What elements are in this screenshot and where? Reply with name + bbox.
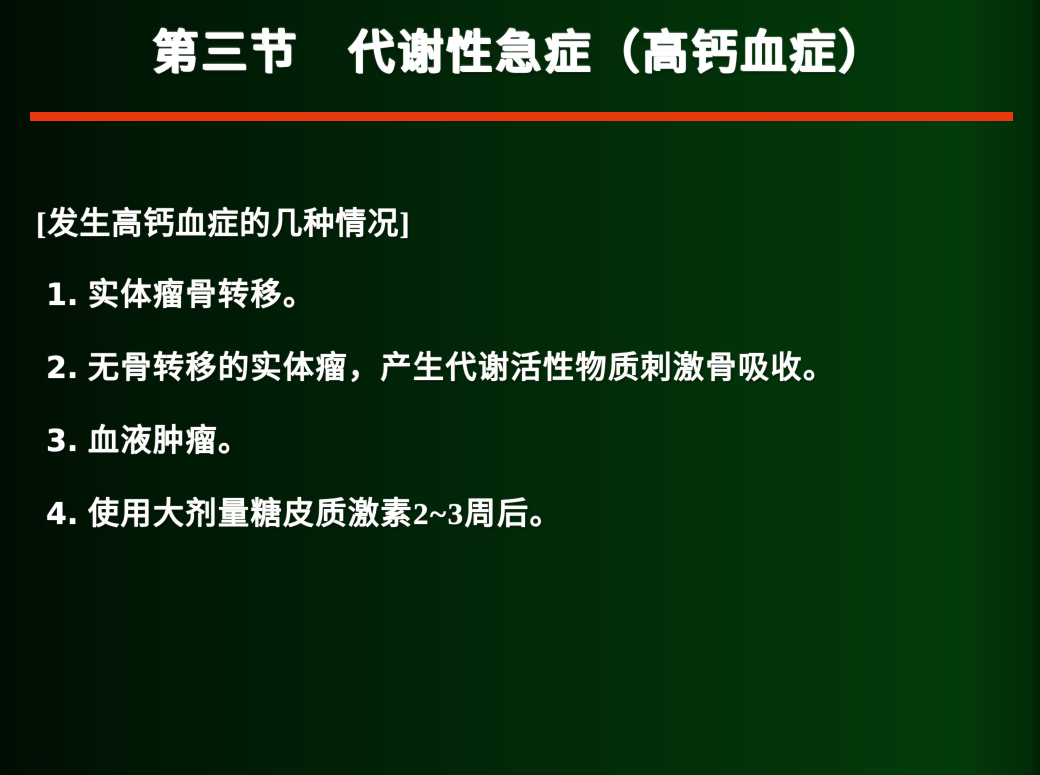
list-item: 4. 使用大剂量糖皮质激素2~3周后。 xyxy=(36,488,1006,533)
list-item: 1. 实体瘤骨转移。 xyxy=(36,269,1006,314)
body-content: [发生高钙血症的几种情况] 1. 实体瘤骨转移。 2. 无骨转移的实体瘤，产生代… xyxy=(36,198,1006,533)
list-item-text: 实体瘤骨转移。 xyxy=(88,269,316,314)
title-divider-rule xyxy=(30,112,1013,121)
list-item: 2. 无骨转移的实体瘤，产生代谢活性物质刺激骨吸收。 xyxy=(36,342,1006,387)
section-heading: [发生高钙血症的几种情况] xyxy=(36,198,1006,243)
list-item-text: 无骨转移的实体瘤，产生代谢活性物质刺激骨吸收。 xyxy=(88,342,836,387)
list-item-number: 3. xyxy=(36,424,88,459)
presentation-slide: 第三节 代谢性急症（高钙血症） [发生高钙血症的几种情况] 1. 实体瘤骨转移。… xyxy=(0,0,1040,775)
numbered-point-list: 1. 实体瘤骨转移。 2. 无骨转移的实体瘤，产生代谢活性物质刺激骨吸收。 3.… xyxy=(36,269,1006,533)
list-item: 3. 血液肿瘤。 xyxy=(36,415,1006,460)
list-item-text: 血液肿瘤。 xyxy=(88,415,251,460)
title-block: 第三节 代谢性急症（高钙血症） xyxy=(0,26,1040,79)
list-item-number: 2. xyxy=(36,351,88,386)
page-title: 第三节 代谢性急症（高钙血症） xyxy=(153,26,888,79)
list-item-text: 使用大剂量糖皮质激素2~3周后。 xyxy=(88,488,562,533)
list-item-number: 4. xyxy=(36,497,88,532)
list-item-number: 1. xyxy=(36,278,88,313)
